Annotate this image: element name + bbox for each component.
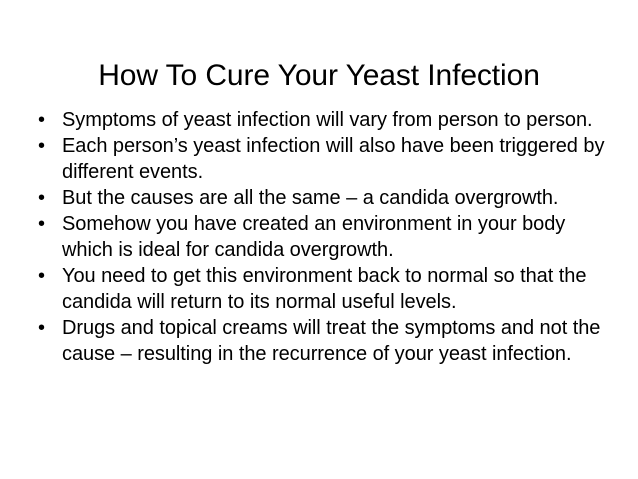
list-item-text: You need to get this environment back to… bbox=[62, 263, 608, 315]
list-item: • Each person’s yeast infection will als… bbox=[30, 133, 608, 185]
list-item-text: Symptoms of yeast infection will vary fr… bbox=[62, 107, 608, 133]
list-item: • You need to get this environment back … bbox=[30, 263, 608, 315]
presentation-slide: How To Cure Your Yeast Infection • Sympt… bbox=[0, 0, 638, 479]
bullet-point-icon: • bbox=[38, 107, 52, 133]
list-item: • Symptoms of yeast infection will vary … bbox=[30, 107, 608, 133]
bullet-point-icon: • bbox=[38, 185, 52, 211]
bullet-point-icon: • bbox=[38, 315, 52, 341]
list-item-text: Drugs and topical creams will treat the … bbox=[62, 315, 608, 367]
list-item: • Drugs and topical creams will treat th… bbox=[30, 315, 608, 367]
list-item-text: But the causes are all the same – a cand… bbox=[62, 185, 608, 211]
list-item-text: Each person’s yeast infection will also … bbox=[62, 133, 608, 185]
bullet-point-icon: • bbox=[38, 133, 52, 159]
bullet-point-icon: • bbox=[38, 211, 52, 237]
list-item-text: Somehow you have created an environment … bbox=[62, 211, 608, 263]
list-item: • But the causes are all the same – a ca… bbox=[30, 185, 608, 211]
slide-title: How To Cure Your Yeast Infection bbox=[0, 58, 638, 94]
list-item: • Somehow you have created an environmen… bbox=[30, 211, 608, 263]
slide-bullet-list: • Symptoms of yeast infection will vary … bbox=[30, 107, 608, 367]
bullet-point-icon: • bbox=[38, 263, 52, 289]
